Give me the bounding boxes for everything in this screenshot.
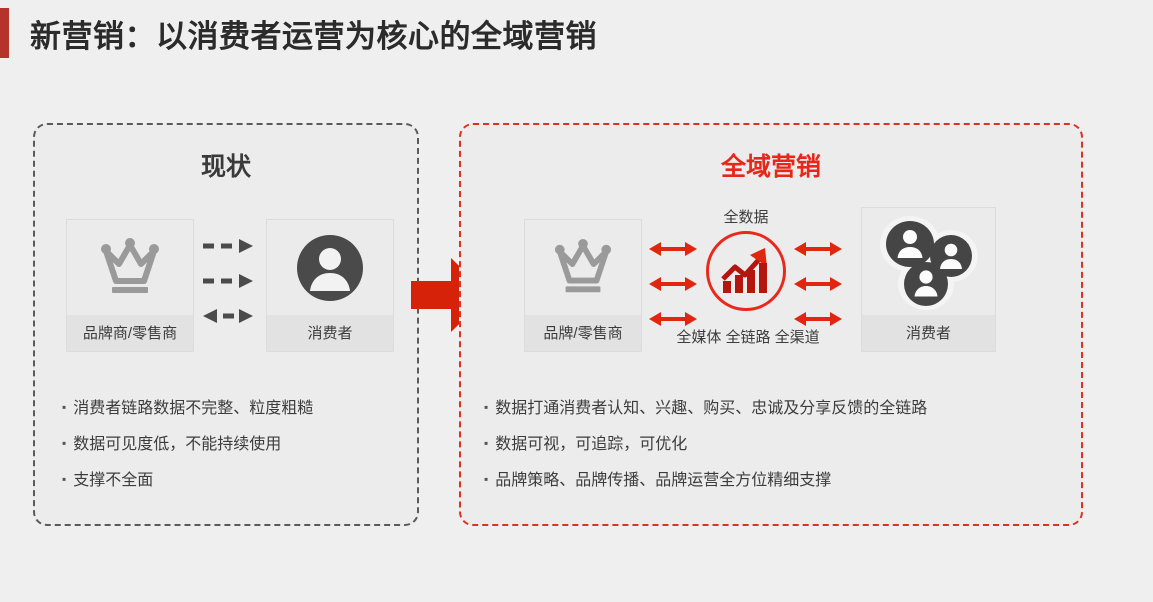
entity-card-consumer-omnichannel: 消费者	[861, 207, 996, 352]
bullet-mark: ▪	[62, 471, 66, 488]
bullet-mark: ▪	[62, 399, 66, 416]
entity-card-consumer-current: 消费者	[266, 219, 394, 352]
bullet-text: 消费者链路数据不完整、粒度粗糙	[73, 399, 313, 418]
connector-group-current	[201, 243, 263, 323]
bullet-item: ▪ 数据打通消费者认知、兴趣、购买、忠诚及分享反馈的全链路	[484, 399, 1054, 418]
entity-label-brand-current: 品牌商/零售商	[67, 315, 193, 351]
crown-icon	[67, 220, 193, 315]
double-arrow-icon	[648, 241, 700, 262]
bullet-item: ▪ 品牌策略、品牌传播、品牌运营全方位精细支撑	[484, 471, 1054, 490]
entity-card-brand-current: 品牌商/零售商	[66, 219, 194, 352]
double-arrow-icon	[648, 276, 700, 297]
panel-omnichannel-heading: 全域营销	[461, 147, 1081, 183]
entity-label-consumer-current: 消费者	[267, 315, 393, 351]
connector-group-right-omnichannel	[793, 248, 845, 324]
connector-group-left-omnichannel	[648, 248, 700, 324]
bullet-item: ▪ 支撑不全面	[62, 471, 392, 490]
person-icon	[267, 220, 393, 315]
people-group-icon	[862, 208, 995, 315]
bullet-mark: ▪	[484, 435, 488, 452]
page-title: 新营销：以消费者运营为核心的全域营销	[0, 8, 597, 58]
bullet-mark: ▪	[62, 435, 66, 452]
channels-label: 全媒体 全链路 全渠道	[648, 326, 848, 347]
bullet-text: 数据打通消费者认知、兴趣、购买、忠诚及分享反馈的全链路	[495, 399, 927, 418]
entity-label-consumer-omnichannel: 消费者	[862, 315, 995, 351]
bullet-list-omnichannel: ▪ 数据打通消费者认知、兴趣、购买、忠诚及分享反馈的全链路 ▪ 数据可视，可追踪…	[484, 399, 1054, 491]
panel-current-heading: 现状	[35, 147, 417, 183]
double-arrow-icon	[793, 241, 845, 262]
growth-chart-icon	[706, 231, 786, 311]
page-title-text: 新营销：以消费者运营为核心的全域营销	[30, 11, 597, 56]
bullet-item: ▪ 数据可视，可追踪，可优化	[484, 435, 1054, 454]
double-arrow-icon	[793, 276, 845, 297]
title-accent-bar	[0, 8, 9, 58]
bullet-text: 数据可见度低，不能持续使用	[73, 435, 281, 454]
entity-card-brand-omnichannel: 品牌/零售商	[524, 219, 642, 352]
dashed-arrow-right-icon	[201, 238, 263, 259]
entity-label-brand-omnichannel: 品牌/零售商	[525, 315, 641, 351]
bullet-text: 支撑不全面	[73, 471, 153, 490]
data-node-label: 全数据	[723, 206, 768, 227]
bullet-list-current: ▪ 消费者链路数据不完整、粒度粗糙 ▪ 数据可见度低，不能持续使用 ▪ 支撑不全…	[62, 399, 392, 491]
bullet-item: ▪ 数据可见度低，不能持续使用	[62, 435, 392, 454]
bullet-mark: ▪	[484, 471, 488, 488]
crown-icon	[525, 220, 641, 315]
bullet-item: ▪ 消费者链路数据不完整、粒度粗糙	[62, 399, 392, 418]
bullet-text: 品牌策略、品牌传播、品牌运营全方位精细支撑	[495, 471, 831, 490]
dashed-arrow-right-icon	[201, 273, 263, 294]
bullet-mark: ▪	[484, 399, 488, 416]
bullet-text: 数据可视，可追踪，可优化	[495, 435, 687, 454]
dashed-arrow-left-right-icon	[201, 308, 263, 329]
